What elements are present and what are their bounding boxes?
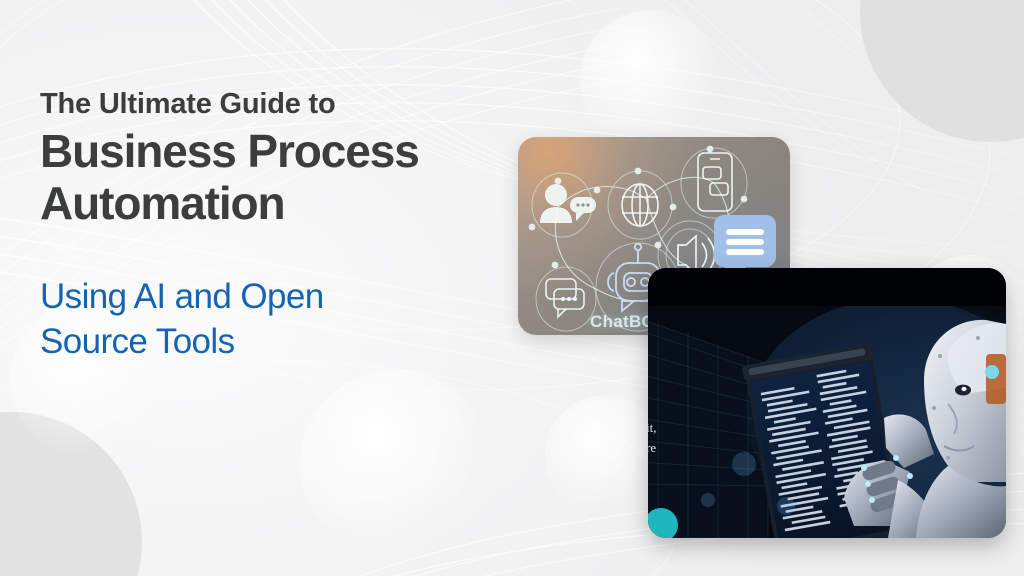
slide-canvas: The Ultimate Guide to Business Process A… <box>0 0 1024 576</box>
page-title: Business Process Automation <box>40 126 510 229</box>
soft-blob <box>300 370 490 560</box>
teal-accent-dot <box>648 508 678 538</box>
cut-text-line-1: it, <box>648 418 656 438</box>
title-line-2: Automation <box>40 178 510 230</box>
corner-circle-top-right <box>860 0 1024 142</box>
user-chat-bubble-icon <box>570 197 596 221</box>
robot-coding-graphic <box>648 268 1006 538</box>
soft-blob <box>580 10 720 150</box>
robot-coding-card: it, re <box>648 268 1006 538</box>
globe-icon <box>622 184 658 226</box>
soft-blob <box>545 395 665 515</box>
kicker-text: The Ultimate Guide to <box>40 88 510 120</box>
subtitle-line-1: Using AI and Open <box>40 277 324 316</box>
page-subtitle: Using AI and Open Source Tools <box>40 274 510 365</box>
title-line-1: Business Process <box>40 125 419 177</box>
subtitle-line-2: Source Tools <box>40 319 510 365</box>
chat-bubble-icon <box>546 279 584 317</box>
corner-circle-bottom-left <box>0 412 142 576</box>
headline-block: The Ultimate Guide to Business Process A… <box>40 88 510 365</box>
smartphone-chat-icon <box>698 153 732 211</box>
cut-text-line-2: re <box>648 438 656 458</box>
cut-off-overlay-text: it, re <box>648 418 656 458</box>
user-avatar-icon <box>540 184 572 223</box>
